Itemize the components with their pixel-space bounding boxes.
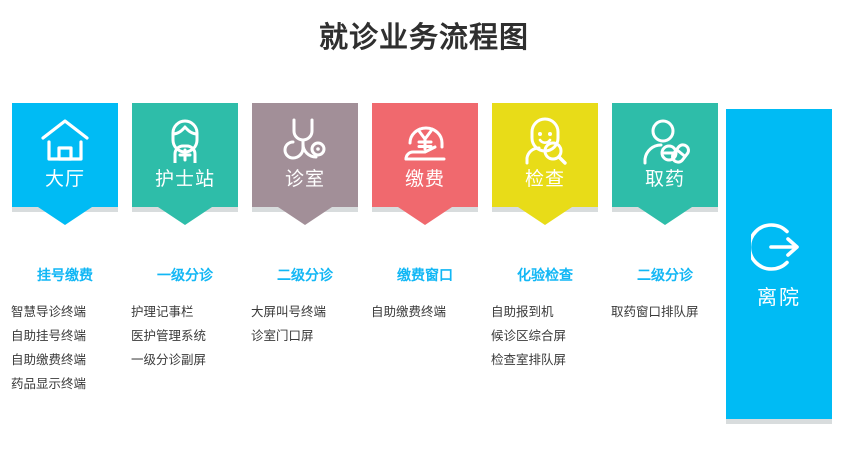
stage-card-pharmacy[interactable]: 取药 <box>612 103 718 207</box>
person-pills-icon <box>638 115 692 167</box>
flow-stage-consulting-room: 诊室二级分诊大屏叫号终端诊室门口屏 <box>252 103 358 207</box>
page-title: 就诊业务流程图 <box>0 14 848 56</box>
list-item: 医护管理系统 <box>131 324 271 348</box>
stage-subheader-payment: 缴费窗口 <box>360 265 490 285</box>
hand-yen-icon <box>398 115 452 167</box>
house-icon <box>38 115 92 167</box>
stage-item-list-examination: 自助报到机候诊区综合屏检查室排队屏 <box>491 300 631 372</box>
list-item: 候诊区综合屏 <box>491 324 631 348</box>
stage-card-label: 检查 <box>525 169 565 191</box>
stage-card-examination[interactable]: 检查 <box>492 103 598 207</box>
stage-item-list-nurse-station: 护理记事栏医护管理系统一级分诊副屏 <box>131 300 271 372</box>
stage-item-list-consulting-room: 大屏叫号终端诊室门口屏 <box>251 300 391 348</box>
stage-card-lobby[interactable]: 大厅 <box>12 103 118 207</box>
exit-arrow-icon <box>751 219 807 275</box>
list-item: 自助缴费终端 <box>371 300 511 324</box>
stage-card-label: 诊室 <box>285 169 325 191</box>
stage-card-label: 大厅 <box>45 169 85 191</box>
list-item: 自助报到机 <box>491 300 631 324</box>
stethoscope-icon <box>278 115 332 167</box>
list-item: 智慧导诊终端 <box>11 300 151 324</box>
flow-stage-pharmacy: 取药二级分诊取药窗口排队屏 <box>612 103 718 207</box>
stage-subheader-lobby: 挂号缴费 <box>0 265 130 285</box>
list-item: 护理记事栏 <box>131 300 271 324</box>
flow-stage-nurse-station: 护士站一级分诊护理记事栏医护管理系统一级分诊副屏 <box>132 103 238 207</box>
list-item: 一级分诊副屏 <box>131 348 271 372</box>
stage-card-consulting-room[interactable]: 诊室 <box>252 103 358 207</box>
list-item: 自助缴费终端 <box>11 348 151 372</box>
list-item: 大屏叫号终端 <box>251 300 391 324</box>
stage-card-nurse-station[interactable]: 护士站 <box>132 103 238 207</box>
stage-card-pointer <box>38 207 92 225</box>
list-item: 自助挂号终端 <box>11 324 151 348</box>
stage-card-pointer <box>518 207 572 225</box>
stage-card-pointer <box>158 207 212 225</box>
stage-card-label: 取药 <box>645 169 685 191</box>
stage-subheader-consulting-room: 二级分诊 <box>240 265 370 285</box>
exit-panel-discharge[interactable]: 离院 <box>726 109 832 419</box>
stage-card-pointer <box>278 207 332 225</box>
stage-item-list-lobby: 智慧导诊终端自助挂号终端自助缴费终端药品显示终端 <box>11 300 151 396</box>
stage-card-label: 缴费 <box>405 169 445 191</box>
flow-stage-lobby: 大厅挂号缴费智慧导诊终端自助挂号终端自助缴费终端药品显示终端 <box>12 103 118 207</box>
nurse-icon <box>158 115 212 167</box>
exit-panel-shadow <box>726 419 832 424</box>
list-item: 诊室门口屏 <box>251 324 391 348</box>
stage-card-label: 护士站 <box>155 169 215 191</box>
stage-card-pointer <box>398 207 452 225</box>
list-item: 检查室排队屏 <box>491 348 631 372</box>
list-item: 药品显示终端 <box>11 372 151 396</box>
flow-stage-payment: 缴费缴费窗口自助缴费终端 <box>372 103 478 207</box>
person-magnifier-icon <box>518 115 572 167</box>
stage-item-list-payment: 自助缴费终端 <box>371 300 511 324</box>
stage-subheader-nurse-station: 一级分诊 <box>120 265 250 285</box>
process-flow-row: 大厅挂号缴费智慧导诊终端自助挂号终端自助缴费终端药品显示终端护士站一级分诊护理记… <box>0 103 848 423</box>
stage-card-pointer <box>638 207 692 225</box>
stage-subheader-examination: 化验检查 <box>480 265 610 285</box>
flow-stage-examination: 检查化验检查自助报到机候诊区综合屏检查室排队屏 <box>492 103 598 207</box>
stage-subheader-pharmacy: 二级分诊 <box>600 265 730 285</box>
stage-card-payment[interactable]: 缴费 <box>372 103 478 207</box>
exit-panel-label: 离院 <box>757 281 801 310</box>
